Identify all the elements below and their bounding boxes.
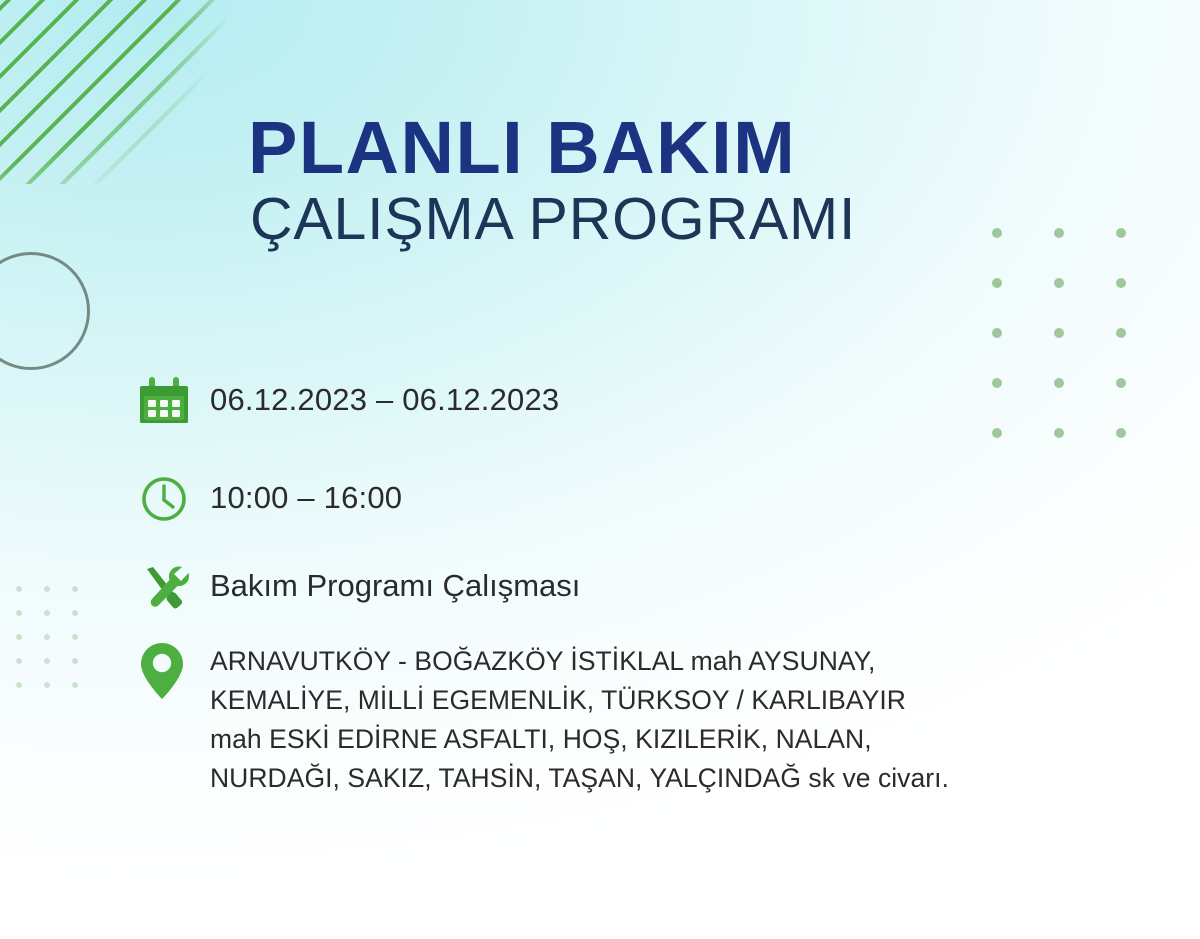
title-line-secondary: ÇALIŞMA PROGRAMI (248, 190, 1008, 249)
planned-maintenance-poster: PLANLI BAKIM ÇALIŞMA PROGRAMI (0, 0, 1200, 939)
circle-outline-decoration (0, 252, 90, 370)
dot (72, 610, 78, 616)
dot (1116, 328, 1126, 338)
dot-grid-left-decoration (16, 586, 100, 706)
dot (1054, 228, 1064, 238)
dot (1116, 378, 1126, 388)
dot (44, 682, 50, 688)
address-line: NURDAĞI, SAKIZ, TAHSİN, TAŞAN, YALÇINDAĞ… (210, 759, 1100, 798)
diagonal-stripes-decoration (0, 0, 226, 184)
title-line-primary: PLANLI BAKIM (248, 112, 1008, 184)
detail-row-date: 06.12.2023 – 06.12.2023 (140, 372, 1100, 430)
page-title: PLANLI BAKIM ÇALIŞMA PROGRAMI (248, 112, 1008, 249)
work-type-value: Bakım Programı Çalışması (210, 558, 1100, 605)
dot (1054, 328, 1064, 338)
dot (992, 278, 1002, 288)
dot (16, 658, 22, 664)
dot (992, 328, 1002, 338)
dot (1054, 278, 1064, 288)
detail-row-work-type: Bakım Programı Çalışması (140, 558, 1100, 616)
dot (72, 658, 78, 664)
date-range-value: 06.12.2023 – 06.12.2023 (210, 372, 1100, 419)
tools-icon (140, 558, 210, 616)
detail-row-time: 10:00 – 16:00 (140, 470, 1100, 528)
dot (1116, 428, 1126, 438)
time-range-value: 10:00 – 16:00 (210, 470, 1100, 517)
dot (16, 586, 22, 592)
dot (1116, 228, 1126, 238)
dot (72, 682, 78, 688)
dot (16, 610, 22, 616)
address-line: KEMALİYE, MİLLİ EGEMENLİK, TÜRKSOY / KAR… (210, 681, 1100, 720)
clock-icon (140, 470, 210, 528)
details-list: 06.12.2023 – 06.12.2023 10:00 – 16:00 (140, 372, 1100, 798)
dot (16, 682, 22, 688)
dot (72, 634, 78, 640)
dot (44, 586, 50, 592)
address-line: ARNAVUTKÖY - BOĞAZKÖY İSTİKLAL mah AYSUN… (210, 642, 1100, 681)
dot (44, 610, 50, 616)
calendar-icon (140, 372, 210, 430)
dot (44, 634, 50, 640)
dot (16, 634, 22, 640)
dot (1116, 278, 1126, 288)
location-address: ARNAVUTKÖY - BOĞAZKÖY İSTİKLAL mah AYSUN… (210, 640, 1100, 798)
detail-row-location: ARNAVUTKÖY - BOĞAZKÖY İSTİKLAL mah AYSUN… (140, 640, 1100, 798)
address-line: mah ESKİ EDİRNE ASFALTI, HOŞ, KIZILERİK,… (210, 720, 1100, 759)
dot (44, 658, 50, 664)
dot (72, 586, 78, 592)
map-pin-icon (140, 640, 210, 700)
